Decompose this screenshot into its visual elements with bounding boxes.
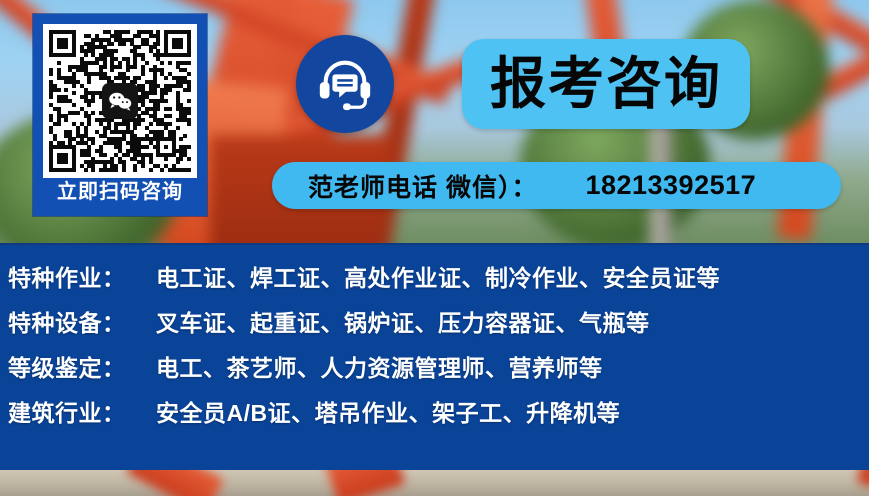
headset-icon-circle — [296, 35, 394, 133]
category-row-construction-industry: 建筑行业： 安全员A/B证、塔吊作业、架子工、升降机等 — [8, 394, 866, 439]
category-label: 等级鉴定： — [8, 349, 156, 383]
category-list: 特种作业： 电工证、焊工证、高处作业证、制冷作业、安全员证等 特种设备： 叉车证… — [8, 259, 866, 439]
category-value: 叉车证、起重证、锅炉证、压力容器证、气瓶等 — [156, 304, 650, 338]
qr-caption: 立即扫码咨询 — [38, 175, 202, 209]
background-photo-strip — [0, 470, 869, 496]
category-value: 电工、茶艺师、人力资源管理师、营养师等 — [156, 349, 603, 383]
title-pill-text: 报考咨询 — [490, 56, 722, 112]
qr-code-block[interactable]: 立即扫码咨询 — [33, 14, 207, 216]
phone-label: 范老师电话 微信）： — [308, 168, 537, 204]
wechat-icon — [102, 83, 138, 119]
qr-canvas-wrap[interactable] — [49, 30, 191, 172]
category-row-grade-appraisal: 等级鉴定： 电工、茶艺师、人力资源管理师、营养师等 — [8, 349, 866, 394]
category-value: 电工证、焊工证、高处作业证、制冷作业、安全员证等 — [156, 259, 720, 293]
wechat-glyph — [108, 91, 132, 111]
category-label: 建筑行业： — [8, 394, 156, 428]
phone-pill[interactable]: 范老师电话 微信）： 18213392517 — [272, 162, 841, 209]
headset-chat-icon — [314, 53, 376, 115]
qr-code-image[interactable] — [43, 24, 197, 178]
band-divider — [0, 243, 869, 245]
photo-strip-blur-layer — [0, 470, 869, 496]
info-band: 特种作业： 电工证、焊工证、高处作业证、制冷作业、安全员证等 特种设备： 叉车证… — [0, 243, 869, 471]
category-label: 特种作业： — [8, 259, 156, 293]
category-row-special-equipment: 特种设备： 叉车证、起重证、锅炉证、压力容器证、气瓶等 — [8, 304, 866, 349]
category-value: 安全员A/B证、塔吊作业、架子工、升降机等 — [156, 394, 620, 428]
promo-poster: 报考咨询 范老师电话 微信）： 18213392517 — [0, 0, 869, 496]
category-label: 特种设备： — [8, 304, 156, 338]
phone-number[interactable]: 18213392517 — [585, 170, 756, 201]
category-row-special-operations: 特种作业： 电工证、焊工证、高处作业证、制冷作业、安全员证等 — [8, 259, 866, 304]
title-pill: 报考咨询 — [462, 39, 750, 129]
